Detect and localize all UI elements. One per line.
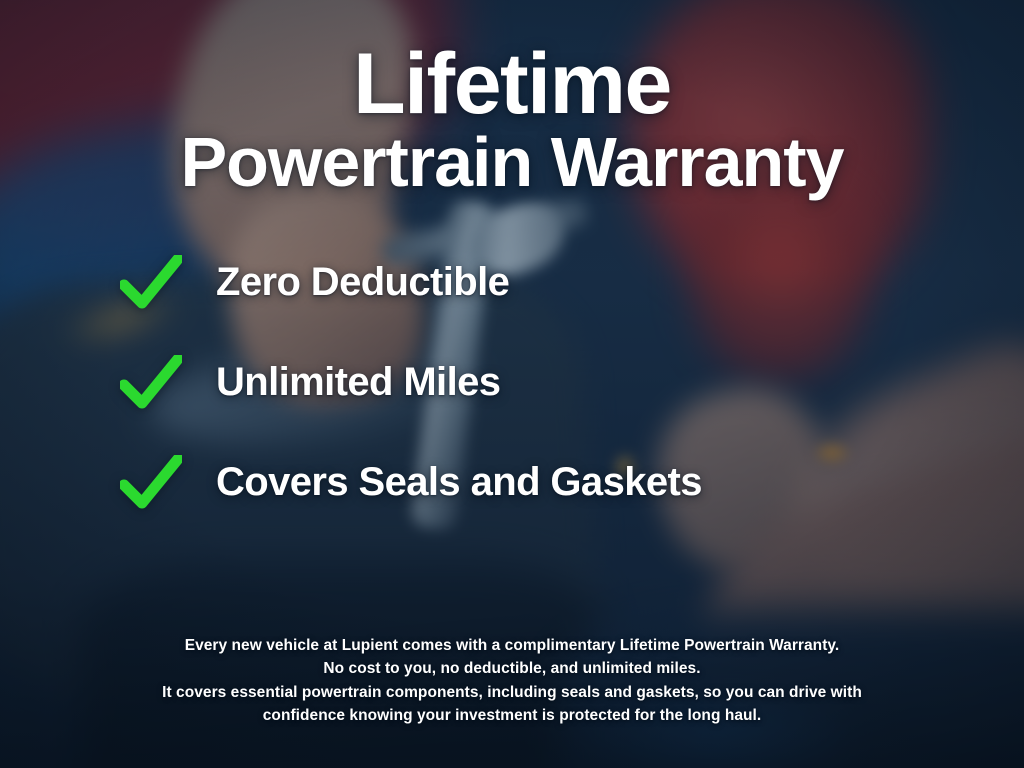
benefit-label: Zero Deductible — [216, 260, 509, 305]
check-icon — [120, 255, 182, 311]
banner-content: Lifetime Powertrain Warranty Zero Deduct… — [0, 0, 1024, 768]
benefit-item-zero-deductible: Zero Deductible — [120, 255, 1024, 311]
body-copy-line-1: Every new vehicle at Lupient comes with … — [60, 634, 964, 658]
headline-line-2: Powertrain Warranty — [0, 128, 1024, 197]
benefit-label: Unlimited Miles — [216, 360, 500, 405]
check-icon — [120, 455, 182, 511]
benefits-list: Zero Deductible Unlimited Miles Covers S… — [0, 255, 1024, 511]
headline-line-1: Lifetime — [0, 42, 1024, 126]
check-icon — [120, 355, 182, 411]
body-copy-line-4: confidence knowing your investment is pr… — [60, 704, 964, 728]
body-copy: Every new vehicle at Lupient comes with … — [0, 634, 1024, 728]
benefit-label: Covers Seals and Gaskets — [216, 460, 702, 505]
benefit-item-covers-seals-and-gaskets: Covers Seals and Gaskets — [120, 455, 1024, 511]
benefit-item-unlimited-miles: Unlimited Miles — [120, 355, 1024, 411]
body-copy-line-3: It covers essential powertrain component… — [60, 681, 964, 705]
body-copy-line-2: No cost to you, no deductible, and unlim… — [60, 657, 964, 681]
lifetime-powertrain-warranty-banner: Lifetime Powertrain Warranty Zero Deduct… — [0, 0, 1024, 768]
